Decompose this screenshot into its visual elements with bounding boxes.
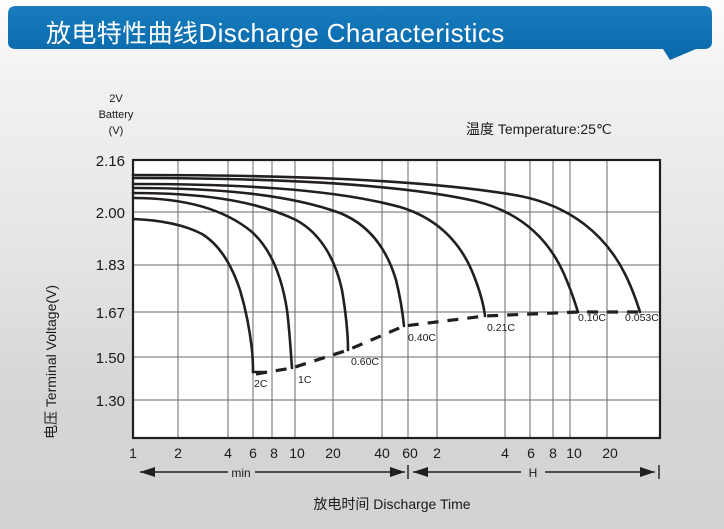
x-tick-min-1: 1	[129, 445, 137, 461]
x-tick-min-10: 10	[289, 445, 305, 461]
x-tick-hour-4: 4	[501, 445, 509, 461]
y-tick-1-67: 1.67	[96, 305, 125, 322]
curve-label-0-10C: 0.10C	[578, 312, 606, 324]
x-tick-min-8: 8	[270, 445, 278, 461]
temperature-annotation: 温度 Temperature:25℃	[466, 121, 612, 137]
curve-label-0-40C: 0.40C	[408, 332, 436, 344]
x-tick-min-4: 4	[224, 445, 232, 461]
range-indicator-min: min	[140, 465, 408, 480]
header-banner: 放电特性曲线Discharge Characteristics	[8, 6, 712, 60]
page-title-en: Discharge Characteristics	[198, 18, 504, 48]
page-title: 放电特性曲线Discharge Characteristics	[46, 15, 505, 52]
page-title-cn: 放电特性曲线	[46, 19, 198, 48]
x-range-unit-hour: H	[529, 466, 538, 480]
discharge-characteristics-chart: 电压 Terminal Voltage(V) 2V Battery (V) 温度…	[0, 62, 724, 529]
y-tick-1-50: 1.50	[96, 350, 125, 367]
x-tick-min-20: 20	[325, 445, 341, 461]
y-tick-2-16: 2.16	[96, 153, 125, 170]
x-tick-hour-6: 6	[527, 445, 535, 461]
page-root: 放电特性曲线Discharge Characteristics 电压 Termi…	[0, 0, 724, 529]
plot-background	[133, 160, 660, 438]
corner-note-line1: 2V	[109, 93, 123, 105]
x-tick-min-2: 2	[174, 445, 182, 461]
x-tick-hour-10: 10	[566, 445, 582, 461]
x-tick-hour-20: 20	[602, 445, 618, 461]
x-tick-hour-2: 2	[433, 445, 441, 461]
x-tick-min-40: 40	[374, 445, 390, 461]
y-axis-title: 电压 Terminal Voltage(V)	[43, 285, 59, 439]
y-tick-1-83: 1.83	[96, 257, 125, 274]
x-tick-hour-8: 8	[549, 445, 557, 461]
curve-label-0-60C: 0.60C	[351, 356, 379, 368]
corner-note-line3: (V)	[109, 125, 124, 137]
x-range-unit-min: min	[231, 466, 250, 480]
x-tick-min-6: 6	[249, 445, 257, 461]
range-indicator-hour: H	[413, 465, 659, 480]
curve-label-0-053C: 0.053C	[625, 312, 659, 324]
curve-label-2C: 2C	[254, 378, 268, 390]
x-axis-title: 放电时间 Discharge Time	[313, 496, 470, 512]
y-tick-2-00: 2.00	[96, 205, 125, 222]
chart-container: 电压 Terminal Voltage(V) 2V Battery (V) 温度…	[0, 62, 724, 529]
y-tick-1-30: 1.30	[96, 393, 125, 410]
curve-label-1C: 1C	[298, 374, 312, 386]
corner-note-line2: Battery	[99, 109, 134, 121]
curve-label-0-21C: 0.21C	[487, 322, 515, 334]
x-tick-min-60: 60	[402, 445, 418, 461]
